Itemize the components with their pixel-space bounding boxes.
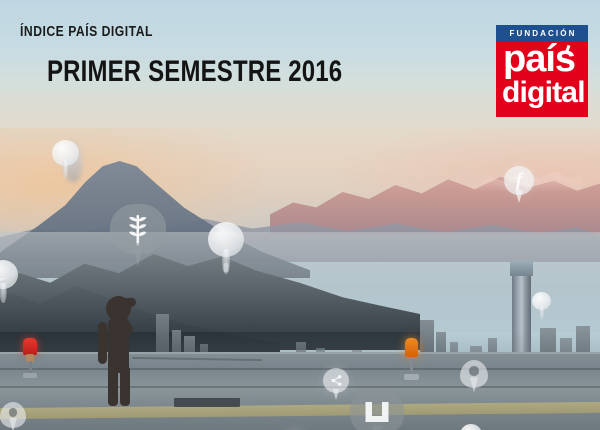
logo-red-block: país digital [496,41,588,117]
balloon-tree[interactable] [110,204,166,254]
rooftop-terrace [0,354,600,430]
balloon-share[interactable] [323,368,349,393]
balloon-plain-mid [208,222,244,257]
red-aviation-beacon [22,338,38,378]
tree-icon [121,212,155,247]
balloon-metro[interactable] [350,388,404,430]
facebook-icon: f [516,171,522,190]
logo-fundacion-bar: FUNDACIÓN [496,25,588,41]
pin-location-left[interactable] [0,402,26,428]
orange-aviation-beacon [404,338,419,382]
balloon-facebook[interactable]: f [504,166,534,195]
tower-crown [510,260,533,276]
rooftop-hatch [174,398,240,407]
metro-m-icon [364,401,390,423]
cover-photo: t t f [0,112,600,430]
person-silhouette [92,296,148,406]
balloon-plain-right2 [532,292,551,310]
share-icon [330,374,343,387]
kicker-text: ÍNDICE PAÍS DIGITAL [20,24,153,40]
pin-location-mid[interactable] [460,360,488,388]
rooftop-yellow-stripe [0,402,600,419]
fundacion-pais-digital-logo[interactable]: FUNDACIÓN país digital [496,25,588,117]
balloon-plain-volcano [52,140,79,166]
balloon-plain-bottom [460,424,482,430]
logo-word-digital: digital [502,75,585,111]
report-cover: t t f [0,0,600,430]
logo-fundacion-text: FUNDACIÓN [508,29,577,38]
page-title: PRIMER SEMESTRE 2016 [47,55,342,89]
balloon-plain-left [0,260,18,289]
